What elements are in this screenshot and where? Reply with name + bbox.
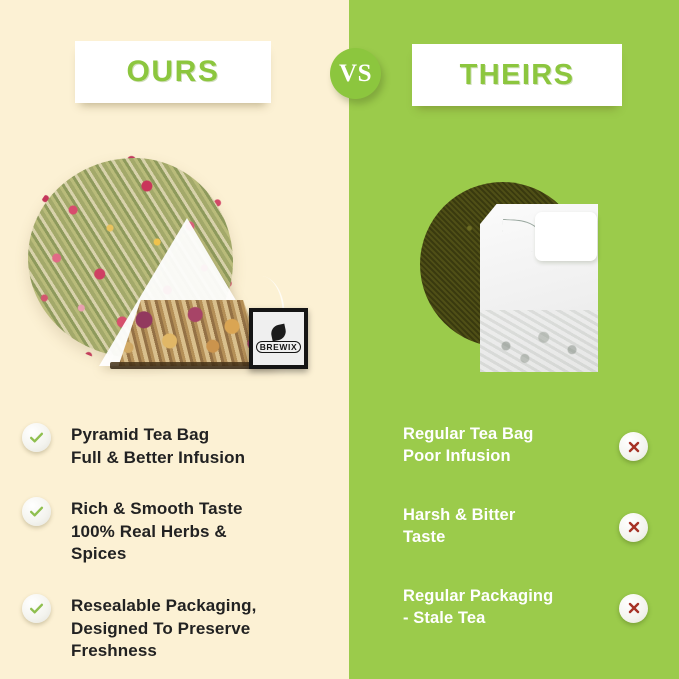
list-item: Harsh & Bitter Taste — [403, 505, 648, 549]
list-item-label: Regular Packaging - Stale Tea — [403, 586, 593, 630]
list-item-line: Poor Infusion — [403, 446, 593, 468]
list-item-line: Rich & Smooth Taste — [71, 498, 243, 521]
list-item: Pyramid Tea Bag Full & Better Infusion — [22, 424, 342, 469]
vs-label: VS — [339, 61, 372, 86]
theirs-header-card: THEIRS — [412, 44, 622, 106]
list-item: Regular Tea Bag Poor Infusion — [403, 424, 648, 468]
ours-header-card: OURS — [75, 41, 271, 103]
brand-logo-badge: BREWIX — [249, 308, 308, 369]
list-item-line: Designed To Preserve — [71, 618, 256, 641]
list-item-line: - Stale Tea — [403, 608, 593, 630]
list-item-line: Regular Packaging — [403, 586, 593, 608]
cross-icon — [619, 594, 648, 623]
list-item-label: Pyramid Tea Bag Full & Better Infusion — [71, 424, 245, 469]
check-icon — [22, 594, 51, 623]
comparison-infographic: OURS VS THEIRS BREWIX — [0, 0, 679, 679]
list-item: Rich & Smooth Taste 100% Real Herbs & Sp… — [22, 498, 342, 566]
list-item-line: Resealable Packaging, — [71, 595, 256, 618]
list-item-line: Full & Better Infusion — [71, 447, 245, 470]
check-icon — [22, 423, 51, 452]
list-item-label: Rich & Smooth Taste 100% Real Herbs & Sp… — [71, 498, 243, 566]
list-item-label: Resealable Packaging, Designed To Preser… — [71, 595, 256, 663]
paper-tea-bag-contents — [480, 310, 598, 372]
list-item-line: Harsh & Bitter — [403, 505, 593, 527]
list-item-line: Freshness — [71, 640, 256, 663]
list-item-line: Taste — [403, 527, 593, 549]
theirs-product-image — [420, 180, 650, 395]
vs-badge: VS — [330, 48, 381, 99]
cross-icon — [619, 513, 648, 542]
ours-title: OURS — [126, 57, 219, 87]
check-icon — [22, 497, 51, 526]
list-item-line: 100% Real Herbs & — [71, 521, 243, 544]
list-item: Regular Packaging - Stale Tea — [403, 586, 648, 630]
theirs-feature-list: Regular Tea Bag Poor Infusion Harsh & Bi… — [403, 424, 648, 667]
list-item-line: Regular Tea Bag — [403, 424, 593, 446]
list-item-label: Regular Tea Bag Poor Infusion — [403, 424, 593, 468]
ours-feature-list: Pyramid Tea Bag Full & Better Infusion R… — [22, 424, 342, 679]
list-item-line: Spices — [71, 543, 243, 566]
tea-bag-tag — [535, 212, 597, 261]
brand-logo-inner: BREWIX — [253, 312, 304, 365]
list-item-label: Harsh & Bitter Taste — [403, 505, 593, 549]
theirs-title: THEIRS — [460, 61, 575, 90]
brand-name: BREWIX — [256, 341, 302, 353]
cross-icon — [619, 432, 648, 461]
list-item: Resealable Packaging, Designed To Preser… — [22, 595, 342, 663]
ours-product-image: BREWIX — [24, 148, 324, 393]
list-item-line: Pyramid Tea Bag — [71, 424, 245, 447]
leaf-icon — [270, 323, 288, 341]
